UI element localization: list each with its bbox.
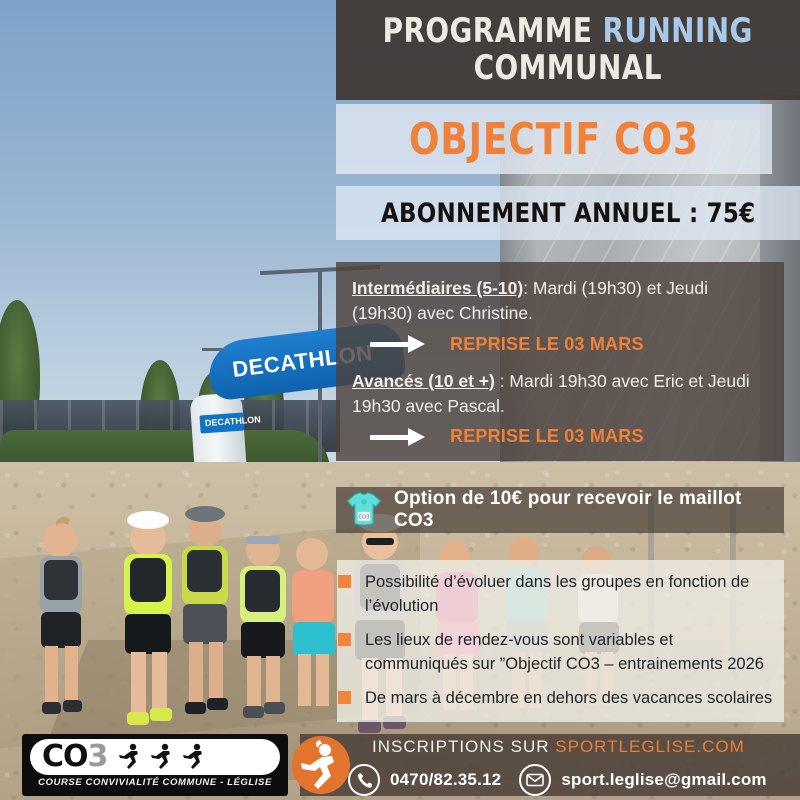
arrow-right-icon: [370, 335, 432, 353]
footer: CO3 COURSE CONVIVIALITÉ C: [0, 728, 800, 800]
group-avances: Avancés (10 et +) : Mardi 19h30 avec Eri…: [352, 369, 768, 419]
list-item: De mars à décembre en dehors des vacance…: [361, 686, 774, 710]
title-line-2: COMMUNAL: [474, 52, 662, 85]
list-item: Possibilité d’évoluer dans les groupes e…: [361, 570, 774, 619]
footer-email[interactable]: sport.leglise@gmail.com: [561, 770, 766, 790]
title-band: PROGRAMME RUNNING COMMUNAL: [336, 0, 800, 100]
objectif-band: OBJECTIF CO3: [336, 104, 772, 174]
co3-logo-badge: CO3: [30, 739, 280, 775]
reprise-row-avances: REPRISE LE 03 MARS: [370, 426, 768, 447]
maillot-label: Option de 10€ pour recevoir le maillot C…: [394, 488, 784, 532]
svg-text:CO3: CO3: [358, 515, 370, 521]
list-item: Les lieux de rendez-vous sont variables …: [361, 628, 774, 677]
list-item-text: De mars à décembre en dehors des vacance…: [365, 689, 772, 707]
co3-logo-text: CO3: [42, 742, 107, 772]
email-icon: [519, 764, 551, 796]
footer-phone[interactable]: 0470/82.35.12: [390, 770, 501, 790]
footer-runner-badge: [292, 736, 350, 794]
reprise-label-avances: REPRISE LE 03 MARS: [450, 426, 644, 447]
title-line-1: PROGRAMME RUNNING: [383, 15, 753, 48]
runner-icon: [177, 742, 207, 772]
bullet-square-icon: [338, 575, 351, 588]
co3-logo: CO3 COURSE CONVIVIALITÉ C: [22, 734, 288, 796]
co3-logo-co: CO: [42, 739, 88, 774]
title-word-running: RUNNING: [603, 11, 753, 51]
reprise-row-intermediaires: REPRISE LE 03 MARS: [370, 334, 768, 355]
footer-website[interactable]: SPORTLEGLISE.COM: [555, 737, 745, 756]
arch-badge: DECATHLON: [199, 412, 244, 433]
co3-logo-three: 3: [88, 739, 108, 774]
maillot-band: CO3 Option de 10€ pour recevoir le maill…: [336, 487, 784, 533]
group-intermediaires: Intermédiaires (5-10): Mardi (19h30) et …: [352, 276, 768, 326]
reprise-label-intermediaires: REPRISE LE 03 MARS: [450, 334, 644, 355]
bullet-square-icon: [338, 691, 351, 704]
runner-icon: [113, 742, 143, 772]
info-bullets-panel: Possibilité d’évoluer dans les groupes e…: [337, 560, 784, 722]
arrow-right-icon: [370, 428, 432, 446]
bullet-square-icon: [338, 633, 351, 646]
abonnement-label: ABONNEMENT ANNUEL : 75€: [381, 198, 755, 229]
group-avances-name: Avancés (10 et +): [352, 371, 495, 391]
list-item-text: Les lieux de rendez-vous sont variables …: [365, 631, 764, 673]
running-figure-icon: [292, 736, 350, 794]
group-intermediaires-name: Intermédiaires (5-10): [352, 278, 523, 298]
arch-badge-label: DECATHLON: [205, 414, 261, 428]
co3-logo-tagline: COURSE CONVIVIALITÉ COMMUNE - LÉGLISE: [22, 777, 288, 788]
abonnement-band: ABONNEMENT ANNUEL : 75€: [336, 186, 800, 240]
title-word-programme: PROGRAMME: [383, 11, 593, 51]
tshirt-icon: CO3: [342, 490, 386, 530]
groups-panel: Intermédiaires (5-10): Mardi (19h30) et …: [336, 262, 784, 461]
logo-runner-icons: [113, 742, 207, 772]
objectif-label: OBJECTIF CO3: [409, 114, 699, 165]
runner-icon: [145, 742, 175, 772]
phone-icon: [348, 764, 380, 796]
footer-contact-line: 0470/82.35.12 sport.leglise@gmail.com: [348, 764, 785, 796]
footer-inscriptions-label: INSCRIPTIONS SUR: [372, 737, 550, 756]
footer-inscriptions-line: INSCRIPTIONS SUR SPORTLEGLISE.COM: [372, 737, 745, 757]
poster: DECATHLON DECATHLON: [0, 0, 800, 800]
list-item-text: Possibilité d’évoluer dans les groupes e…: [365, 573, 749, 615]
